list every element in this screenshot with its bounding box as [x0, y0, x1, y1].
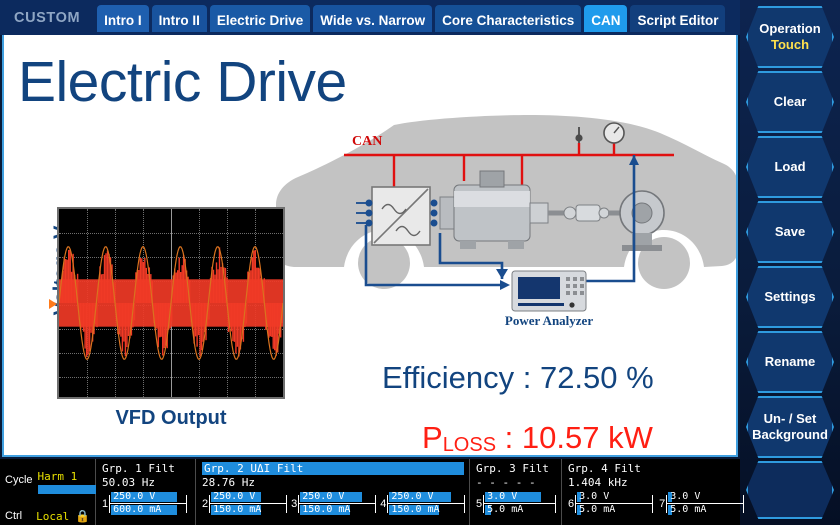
- status-group-1[interactable]: Grp. 1 Filt 50.03 Hz 1 250.0 V 600.0 mA: [96, 459, 196, 525]
- vehicle-drivetrain-diagram: CAN: [274, 113, 738, 333]
- function-key-sidebar: Operation Touch Clear Load Save Settings…: [740, 0, 840, 525]
- softkey-load-label: Load: [774, 159, 805, 175]
- group-2-frequency: 28.76 Hz: [202, 476, 464, 489]
- channel-6-number: 6: [568, 498, 574, 510]
- ploss-subscript: LOSS: [443, 434, 496, 456]
- scope-panel: Voltage V VFD Output: [20, 207, 288, 447]
- softkey-settings-label: Settings: [764, 289, 815, 305]
- zero-level-marker-icon: [49, 299, 57, 309]
- tab-bar: CUSTOM Intro I Intro II Electric Drive W…: [0, 0, 740, 35]
- status-group-4[interactable]: Grp. 4 Filt 1.404 kHz 6 3.0 V 5.0 mA 7: [562, 459, 738, 525]
- inverter-output-terminals: [431, 200, 436, 225]
- custom-label: CUSTOM: [8, 10, 94, 35]
- status-cycle-section: Cycle Harm 1 Ctrl Local 🔒: [0, 459, 96, 525]
- softkey-unset-background-label: Un- / Set Background: [752, 411, 828, 443]
- channel-2-voltage: 250.0 V: [213, 491, 255, 502]
- group-4-frequency: 1.404 kHz: [568, 476, 733, 489]
- channel-3-gauge: 250.0 V 150.0 mA: [298, 491, 376, 517]
- softkey-load[interactable]: Load: [746, 136, 834, 198]
- channel-row: 5 3.0 V 5.0 mA: [476, 491, 556, 517]
- group-1-frequency: 50.03 Hz: [102, 476, 190, 489]
- channel-row: 7 3.0 V 5.0 mA: [659, 491, 744, 517]
- efficiency-label: Efficiency :: [382, 360, 531, 395]
- softkey-operation-value: Touch: [771, 37, 809, 53]
- channel-4-gauge: 250.0 V 150.0 mA: [387, 491, 465, 517]
- channel-3-voltage: 250.0 V: [302, 491, 344, 502]
- channel-7-voltage: 3.0 V: [670, 491, 700, 502]
- channel-5-number: 5: [476, 498, 482, 510]
- softkey-clear[interactable]: Clear: [746, 71, 834, 133]
- power-loss-readout: PLOSS : 10.57 kW: [422, 420, 653, 456]
- channel-row: 6 3.0 V 5.0 mA: [568, 491, 653, 517]
- softkey-clear-label: Clear: [774, 94, 807, 110]
- waveform-display[interactable]: [57, 207, 285, 399]
- status-bar: Cycle Harm 1 Ctrl Local 🔒 Grp. 1 Filt 50…: [0, 459, 740, 525]
- softkey-empty[interactable]: [746, 461, 834, 519]
- ctrl-label: Ctrl: [5, 510, 22, 522]
- pwm-voltage-trace: [59, 209, 283, 397]
- channel-6-current: 5.0 mA: [579, 504, 615, 515]
- application-window: CUSTOM Intro I Intro II Electric Drive W…: [0, 0, 840, 525]
- inverter-block: [372, 187, 430, 245]
- channel-1-current: 600.0 mA: [113, 504, 161, 515]
- channel-4-number: 4: [380, 498, 386, 510]
- page-title: Electric Drive: [18, 49, 347, 115]
- status-group-3[interactable]: Grp. 3 Filt - - - - - 5 3.0 V 5.0 mA: [470, 459, 562, 525]
- channel-5-gauge: 3.0 V 5.0 mA: [483, 491, 556, 517]
- cycle-value: Harm 1: [38, 470, 78, 483]
- group-4-header: Grp. 4 Filt: [568, 462, 733, 475]
- channel-2-number: 2: [202, 498, 208, 510]
- cycle-label: Cycle: [5, 474, 33, 486]
- softkey-rename-label: Rename: [765, 354, 816, 370]
- efficiency-value: 72.50 %: [540, 360, 654, 395]
- channel-1-gauge: 250.0 V 600.0 mA: [109, 491, 187, 517]
- channel-5-current: 5.0 mA: [487, 504, 523, 515]
- softkey-rename[interactable]: Rename: [746, 331, 834, 393]
- channel-2-current: 150.0 mA: [213, 504, 261, 515]
- ctrl-value: Local: [36, 510, 69, 523]
- tab-wide-vs-narrow[interactable]: Wide vs. Narrow: [313, 5, 432, 35]
- channel-row: 4 250.0 V 150.0 mA: [380, 491, 465, 517]
- softkey-save-label: Save: [775, 224, 805, 240]
- status-group-2[interactable]: Grp. 2 UΔI Filt 28.76 Hz 2 250.0 V 150.0…: [196, 459, 470, 525]
- channel-4-current: 150.0 mA: [391, 504, 439, 515]
- efficiency-readout: Efficiency : 72.50 %: [382, 360, 654, 396]
- channel-1-voltage: 250.0 V: [113, 491, 155, 502]
- softkey-operation[interactable]: Operation Touch: [746, 6, 834, 68]
- softkey-save[interactable]: Save: [746, 201, 834, 263]
- tab-script-editor[interactable]: Script Editor: [630, 5, 725, 35]
- channel-7-number: 7: [659, 498, 665, 510]
- softkey-operation-label: Operation: [759, 21, 820, 37]
- ploss-value: 10.57 kW: [522, 420, 653, 455]
- group-2-header: Grp. 2 UΔI Filt: [202, 462, 464, 475]
- scope-x-caption: VFD Output: [57, 407, 285, 430]
- tab-electric-drive[interactable]: Electric Drive: [210, 5, 310, 35]
- channel-1-number: 1: [102, 498, 108, 510]
- channel-6-gauge: 3.0 V 5.0 mA: [575, 491, 653, 517]
- channel-3-current: 150.0 mA: [302, 504, 350, 515]
- channel-7-gauge: 3.0 V 5.0 mA: [666, 491, 744, 517]
- channel-row: 2 250.0 V 150.0 mA: [202, 491, 287, 517]
- tab-intro-i[interactable]: Intro I: [97, 5, 149, 35]
- can-label: CAN: [352, 134, 382, 149]
- channel-3-number: 3: [291, 498, 297, 510]
- channel-4-voltage: 250.0 V: [391, 491, 433, 502]
- tab-intro-ii[interactable]: Intro II: [152, 5, 207, 35]
- ploss-separator: :: [496, 420, 522, 455]
- group-1-header: Grp. 1 Filt: [102, 462, 190, 475]
- tab-core-characteristics[interactable]: Core Characteristics: [435, 5, 581, 35]
- group-3-frequency: - - - - -: [476, 476, 556, 489]
- softkey-settings[interactable]: Settings: [746, 266, 834, 328]
- channel-7-current: 5.0 mA: [670, 504, 706, 515]
- channel-row: 1 250.0 V 600.0 mA: [102, 491, 190, 517]
- tab-can[interactable]: CAN: [584, 5, 627, 35]
- power-analyzer-device: [512, 271, 586, 311]
- content-panel: Electric Drive CAN: [2, 35, 738, 457]
- ploss-label: P: [422, 420, 443, 455]
- channel-2-gauge: 250.0 V 150.0 mA: [209, 491, 287, 517]
- lock-icon: 🔒: [75, 509, 90, 523]
- power-analyzer-label: Power Analyzer: [505, 313, 593, 328]
- channel-5-voltage: 3.0 V: [487, 491, 517, 502]
- channel-6-voltage: 3.0 V: [579, 491, 609, 502]
- softkey-unset-background[interactable]: Un- / Set Background: [746, 396, 834, 458]
- group-3-header: Grp. 3 Filt: [476, 462, 556, 475]
- channel-row: 3 250.0 V 150.0 mA: [291, 491, 376, 517]
- cycle-bar: [38, 485, 96, 494]
